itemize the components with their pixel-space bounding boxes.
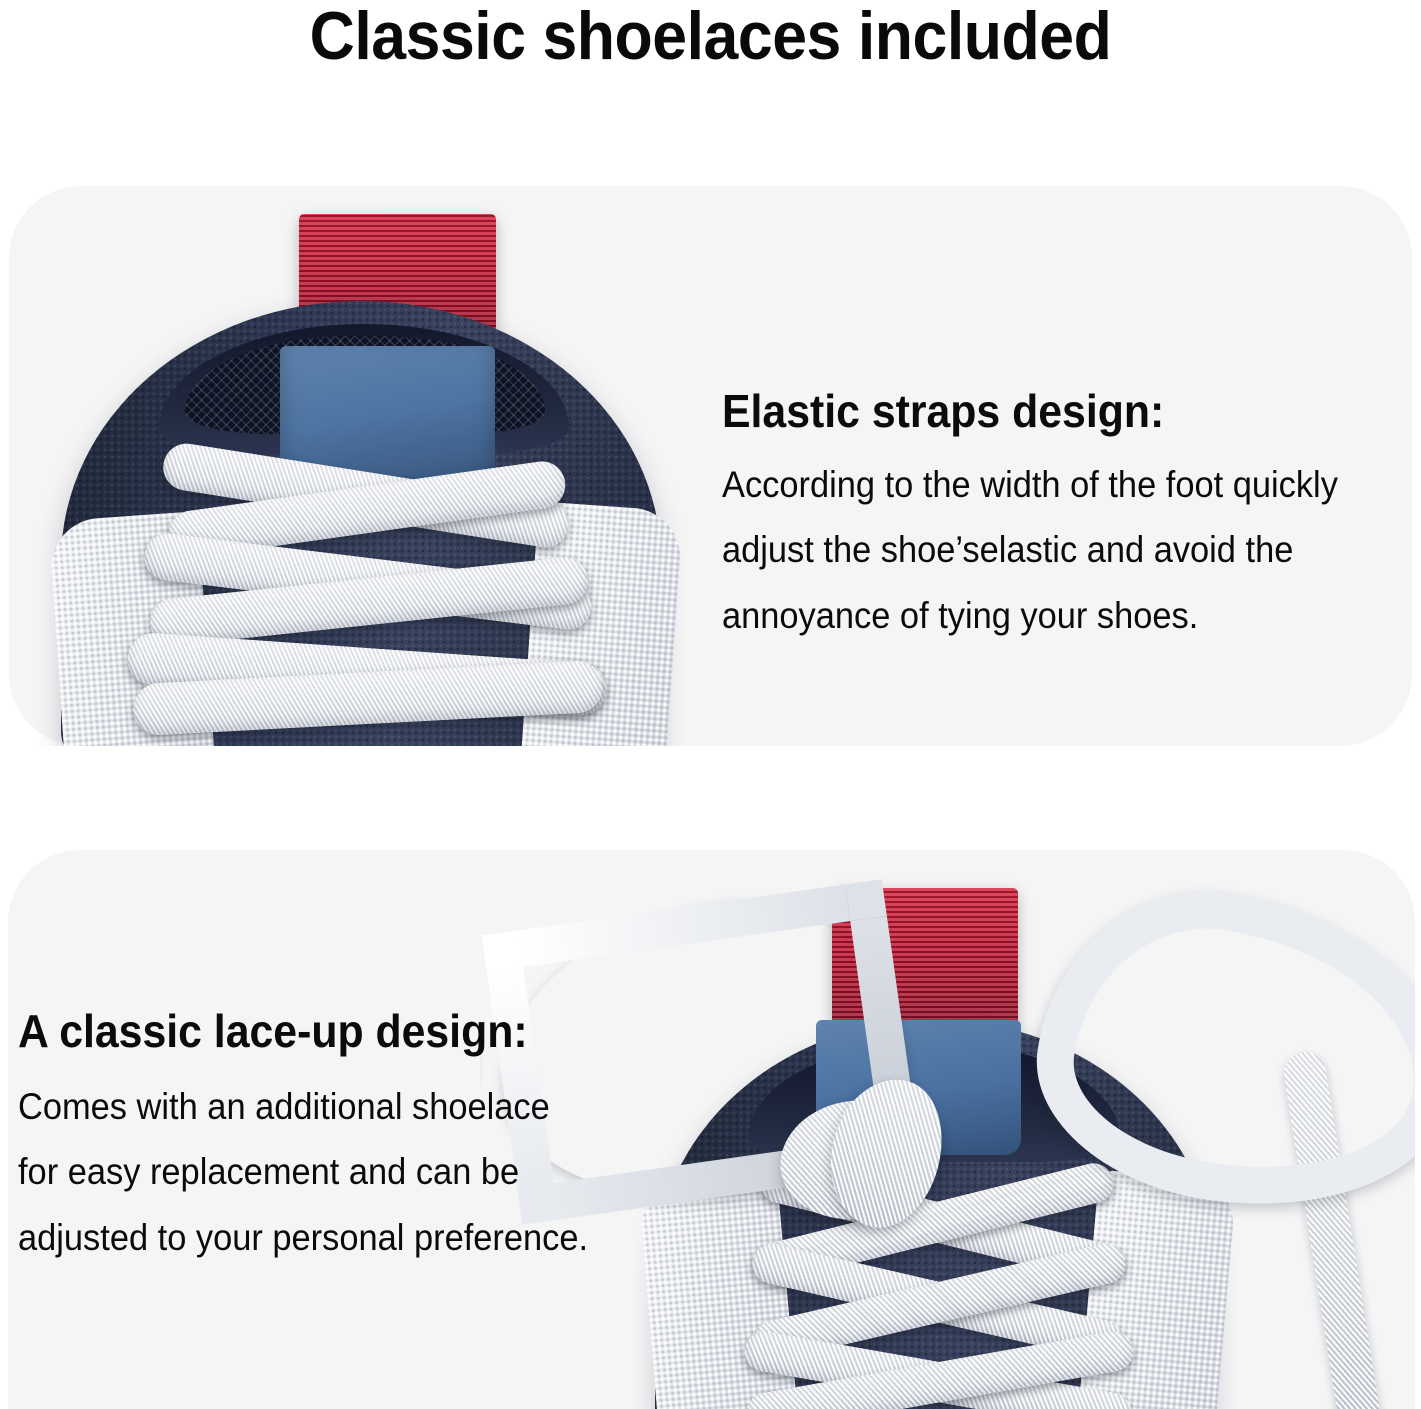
- body-line: adjusted to your personal preference.: [18, 1205, 613, 1271]
- body-line: annoyance of tying your shoes.: [722, 583, 1373, 649]
- body-line: According to the width of the foot quick…: [722, 452, 1373, 518]
- lace-up-heading: A classic lace-up design:: [18, 1006, 613, 1058]
- elastic-straps-heading: Elastic straps design:: [722, 386, 1373, 438]
- body-line: for easy replacement and can be: [18, 1139, 613, 1205]
- page-title: Classic shoelaces included: [57, 0, 1364, 76]
- elastic-straps-body: According to the width of the foot quick…: [722, 452, 1373, 650]
- body-line: adjust the shoe’selastic and avoid the: [722, 517, 1373, 583]
- lace-up-text-block: A classic lace-up design: Comes with an …: [18, 1006, 658, 1271]
- lace-up-body: Comes with an additional shoelace for ea…: [18, 1074, 613, 1272]
- shoe-side-panel-left: [637, 1174, 798, 1409]
- elastic-straps-text-block: Elastic straps design: According to the …: [722, 386, 1421, 649]
- sneaker-with-elastic-straps-image: JOR: [9, 186, 729, 746]
- body-line: Comes with an additional shoelace: [18, 1074, 613, 1140]
